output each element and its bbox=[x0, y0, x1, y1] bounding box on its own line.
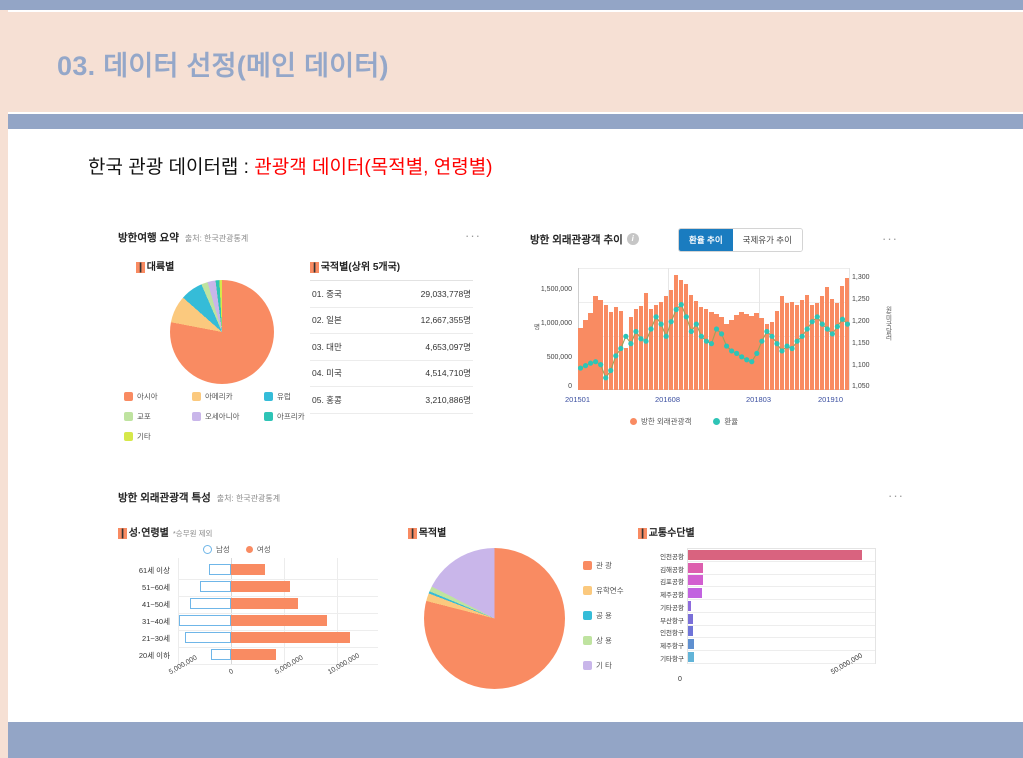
bar-female bbox=[231, 598, 298, 609]
card-travel-summary: 방한여행 요약출처: 한국관광통계 ··· ❙대륙별 아시아 아메리카 유럽 교… bbox=[118, 228, 498, 453]
section-age-label: 성·연령별 bbox=[129, 528, 169, 539]
legend-label: 아메리카 bbox=[205, 391, 233, 402]
country-value: 12,667,355명 bbox=[421, 314, 473, 326]
tab-oil-price[interactable]: 국제유가 추이 bbox=[733, 229, 802, 251]
section-purpose-label: 목적별 bbox=[419, 528, 447, 539]
continent-legend: 아시아 아메리카 유럽 교포 오세아니아 아프리카 기타 bbox=[124, 391, 309, 442]
bar-female bbox=[231, 615, 327, 626]
legend-swatch-icon bbox=[583, 611, 592, 620]
legend-swatch-icon bbox=[583, 586, 592, 595]
subtitle-dataset: 관광객 데이터(목적별, 연령별) bbox=[254, 157, 492, 178]
purpose-legend: 관 광 유학연수 공 용 상 용 기 타 bbox=[583, 560, 624, 671]
bar-female bbox=[231, 564, 265, 575]
bar bbox=[688, 550, 862, 560]
legend-swatch-icon bbox=[583, 561, 592, 570]
x-tick: 201803 bbox=[746, 395, 771, 404]
bar bbox=[688, 563, 703, 573]
continent-pie-chart[interactable] bbox=[170, 280, 274, 384]
card-trend-more-button[interactable]: ··· bbox=[882, 236, 898, 242]
section-transport: ❙교통수단별 bbox=[638, 524, 695, 539]
bar-female bbox=[231, 649, 276, 660]
legend-item-exchange-rate[interactable]: 환율 bbox=[713, 416, 738, 427]
legend-swatch-icon bbox=[124, 432, 133, 441]
section-bar-icon: ❙ bbox=[310, 262, 318, 273]
age-group-label: 61세 이상 bbox=[118, 565, 170, 576]
legend-swatch-icon bbox=[264, 412, 273, 421]
section-continent-label: 대륙별 bbox=[147, 262, 175, 273]
age-group-label: 21~30세 bbox=[118, 633, 170, 644]
legend-item-business[interactable]: 상 용 bbox=[583, 635, 624, 646]
card-trend-header: 방한 외래관광객 추이i bbox=[530, 230, 639, 248]
y-tick-left: 0 bbox=[528, 383, 572, 390]
subtitle-source: 한국 관광 데이터랩 : bbox=[88, 157, 254, 178]
transport-label: 제주항구 bbox=[638, 640, 684, 650]
legend-item-oceania[interactable]: 오세아니아 bbox=[192, 411, 264, 422]
legend-label: 아시아 bbox=[137, 391, 158, 402]
country-value: 4,514,710명 bbox=[425, 367, 473, 379]
legend-dot-icon bbox=[246, 546, 253, 553]
age-legend: 남성 여성 bbox=[203, 544, 271, 555]
legend-dot-icon bbox=[713, 418, 720, 425]
legend-circle-outline-icon bbox=[203, 545, 212, 554]
bar bbox=[688, 626, 693, 636]
y-tick-right: 1,300 bbox=[852, 274, 886, 281]
bar-female bbox=[231, 581, 290, 592]
x-tick: 0 bbox=[678, 676, 682, 683]
x-tick: 201608 bbox=[655, 395, 680, 404]
transport-label: 기타공항 bbox=[638, 602, 684, 612]
card-profile-source: 출처: 한국관광통계 bbox=[217, 494, 280, 503]
country-value: 29,033,778명 bbox=[421, 288, 473, 300]
legend-item-study[interactable]: 유학연수 bbox=[583, 585, 624, 596]
top-band bbox=[0, 0, 1023, 10]
card-visitor-profile: 방한 외래관광객 특성출처: 한국관광통계 ··· ❙성·연령별*승무원 제외 … bbox=[118, 488, 898, 698]
age-group-label: 20세 이하 bbox=[118, 650, 170, 661]
section-bar-icon: ❙ bbox=[118, 528, 126, 539]
bar-male bbox=[211, 649, 231, 660]
subtitle: 한국 관광 데이터랩 : 관광객 데이터(목적별, 연령별) bbox=[88, 152, 493, 179]
legend-item-overseas-korean[interactable]: 교포 bbox=[124, 411, 192, 422]
card-profile-header: 방한 외래관광객 특성출처: 한국관광통계 bbox=[118, 488, 280, 506]
legend-label: 여성 bbox=[257, 544, 271, 555]
tab-exchange-rate[interactable]: 환율 추이 bbox=[679, 229, 733, 251]
legend-swatch-icon bbox=[192, 392, 201, 401]
legend-swatch-icon bbox=[192, 412, 201, 421]
age-group-label: 31~40세 bbox=[118, 616, 170, 627]
legend-item-other[interactable]: 기타 bbox=[124, 431, 192, 442]
section-continent: ❙대륙별 bbox=[136, 258, 174, 273]
legend-item-male[interactable]: 남성 bbox=[203, 544, 230, 555]
banner-divider bbox=[8, 114, 1023, 129]
bar bbox=[688, 588, 702, 598]
legend-label: 남성 bbox=[216, 544, 230, 555]
country-rank: 02. 일본 bbox=[310, 314, 342, 326]
legend-label: 유학연수 bbox=[596, 585, 624, 596]
legend-label: 유럽 bbox=[277, 391, 291, 402]
legend-swatch-icon bbox=[124, 412, 133, 421]
section-country: ❙국적별(상위 5개국) bbox=[310, 258, 400, 273]
x-tick: 201501 bbox=[565, 395, 590, 404]
transport-label: 김해공항 bbox=[638, 564, 684, 574]
bar-male bbox=[190, 598, 231, 609]
age-pyramid-chart[interactable]: 61세 이상51~60세41~50세31~40세21~30세20세 이하 bbox=[118, 558, 388, 664]
purpose-pie-chart[interactable] bbox=[424, 548, 565, 689]
transport-label: 인천공항 bbox=[638, 551, 684, 561]
country-rank: 04. 미국 bbox=[310, 367, 342, 379]
legend-item-etc[interactable]: 기 타 bbox=[583, 660, 624, 671]
legend-label: 기타 bbox=[137, 431, 151, 442]
legend-label: 교포 bbox=[137, 411, 151, 422]
section-age-gender: ❙성·연령별*승무원 제외 bbox=[118, 524, 212, 539]
page-title: 03. 데이터 선정(메인 데이터) bbox=[57, 44, 389, 83]
legend-item-europe[interactable]: 유럽 bbox=[264, 391, 309, 402]
transport-label: 기타항구 bbox=[638, 653, 684, 663]
card-summary-source: 출처: 한국관광통계 bbox=[185, 234, 248, 243]
y-tick-right: 1,200 bbox=[852, 318, 886, 325]
card-summary-title: 방한여행 요약 bbox=[118, 232, 179, 244]
y-tick-left: 500,000 bbox=[528, 354, 572, 361]
legend-swatch-icon bbox=[583, 636, 592, 645]
y-tick-right: 1,150 bbox=[852, 340, 886, 347]
legend-item-visitors[interactable]: 방한 외래관광객 bbox=[630, 416, 691, 427]
section-transport-label: 교통수단별 bbox=[649, 528, 695, 539]
card-summary-header: 방한여행 요약출처: 한국관광통계 bbox=[118, 228, 248, 246]
age-group-label: 41~50세 bbox=[118, 599, 170, 610]
country-rank: 05. 홍콩 bbox=[310, 394, 342, 406]
trend-plot-area[interactable] bbox=[578, 268, 850, 390]
card-visitor-trend: 방한 외래관광객 추이i 환율 추이 국제유가 추이 ··· 명 원/미국달러 … bbox=[530, 228, 905, 438]
country-rank: 01. 중국 bbox=[310, 288, 342, 300]
country-value: 3,210,886명 bbox=[425, 394, 473, 406]
legend-label: 관 광 bbox=[596, 560, 612, 571]
table-row[interactable]: 01. 중국29,033,778명 bbox=[310, 281, 473, 308]
legend-swatch-icon bbox=[264, 392, 273, 401]
legend-label: 기 타 bbox=[596, 660, 612, 671]
y-tick-right: 1,250 bbox=[852, 296, 886, 303]
legend-item-female[interactable]: 여성 bbox=[246, 544, 271, 555]
info-icon[interactable]: i bbox=[627, 233, 639, 245]
bar-male bbox=[200, 581, 231, 592]
y-tick-right: 1,100 bbox=[852, 362, 886, 369]
section-age-note: *승무원 제외 bbox=[173, 529, 213, 538]
legend-item-official[interactable]: 공 용 bbox=[583, 610, 624, 621]
bar-male bbox=[209, 564, 231, 575]
table-row[interactable]: 05. 홍콩3,210,886명 bbox=[310, 387, 473, 414]
x-tick: 0 bbox=[228, 668, 235, 676]
transport-label: 제주공항 bbox=[638, 589, 684, 599]
legend-label: 아프리카 bbox=[277, 411, 305, 422]
x-tick: 201910 bbox=[818, 395, 843, 404]
table-row[interactable]: 03. 대만4,653,097명 bbox=[310, 334, 473, 361]
legend-dot-icon bbox=[630, 418, 637, 425]
transport-bar-chart[interactable]: 인천공항김해공항김포공항제주공항기타공항부산항구인천항구제주항구기타항구 bbox=[638, 548, 878, 666]
legend-label: 오세아니아 bbox=[205, 411, 240, 422]
legend-item-africa[interactable]: 아프리카 bbox=[264, 411, 309, 422]
y-tick-right: 1,050 bbox=[852, 383, 886, 390]
transport-label: 인천항구 bbox=[638, 627, 684, 637]
legend-item-asia[interactable]: 아시아 bbox=[124, 391, 192, 402]
country-rank: 03. 대만 bbox=[310, 341, 342, 353]
trend-toggle-group[interactable]: 환율 추이 국제유가 추이 bbox=[678, 228, 803, 252]
left-edge-strip bbox=[0, 10, 8, 758]
card-summary-more-button[interactable]: ··· bbox=[465, 233, 481, 239]
section-bar-icon: ❙ bbox=[136, 262, 144, 273]
section-bar-icon: ❙ bbox=[638, 528, 646, 539]
legend-item-america[interactable]: 아메리카 bbox=[192, 391, 264, 402]
bar-female bbox=[231, 632, 350, 643]
bar bbox=[688, 652, 694, 662]
bar-male bbox=[185, 632, 231, 643]
exchange-rate-line-series bbox=[578, 268, 850, 390]
card-profile-title: 방한 외래관광객 특성 bbox=[118, 492, 211, 504]
legend-label: 환율 bbox=[724, 416, 738, 427]
transport-label: 김포공항 bbox=[638, 576, 684, 586]
country-value: 4,653,097명 bbox=[425, 341, 473, 353]
legend-swatch-icon bbox=[124, 392, 133, 401]
legend-swatch-icon bbox=[583, 661, 592, 670]
country-ranking-table: 01. 중국29,033,778명 02. 일본12,667,355명 03. … bbox=[310, 280, 473, 414]
footer-band bbox=[8, 722, 1023, 758]
y-tick-left: 1,500,000 bbox=[528, 286, 572, 293]
table-row[interactable]: 02. 일본12,667,355명 bbox=[310, 308, 473, 335]
bar-male bbox=[179, 615, 231, 626]
legend-label: 공 용 bbox=[596, 610, 612, 621]
section-purpose: ❙목적별 bbox=[408, 524, 446, 539]
y-tick-left: 1,000,000 bbox=[528, 320, 572, 327]
legend-label: 방한 외래관광객 bbox=[641, 416, 691, 427]
table-row[interactable]: 04. 미국4,514,710명 bbox=[310, 361, 473, 388]
slide: 03. 데이터 선정(메인 데이터) 한국 관광 데이터랩 : 관광객 데이터(… bbox=[0, 0, 1023, 758]
y-axis-label-right: 원/미국달러 bbox=[882, 306, 892, 366]
bar bbox=[688, 575, 703, 585]
legend-item-tourism[interactable]: 관 광 bbox=[583, 560, 624, 571]
trend-legend: 방한 외래관광객 환율 bbox=[630, 416, 738, 427]
legend-label: 상 용 bbox=[596, 635, 612, 646]
section-country-label: 국적별(상위 5개국) bbox=[321, 262, 400, 273]
bar bbox=[688, 639, 694, 649]
section-bar-icon: ❙ bbox=[408, 528, 416, 539]
bar bbox=[688, 614, 693, 624]
transport-label: 부산항구 bbox=[638, 615, 684, 625]
bar bbox=[688, 601, 691, 611]
card-profile-more-button[interactable]: ··· bbox=[888, 493, 904, 499]
card-trend-title: 방한 외래관광객 추이 bbox=[530, 234, 623, 246]
age-group-label: 51~60세 bbox=[118, 582, 170, 593]
